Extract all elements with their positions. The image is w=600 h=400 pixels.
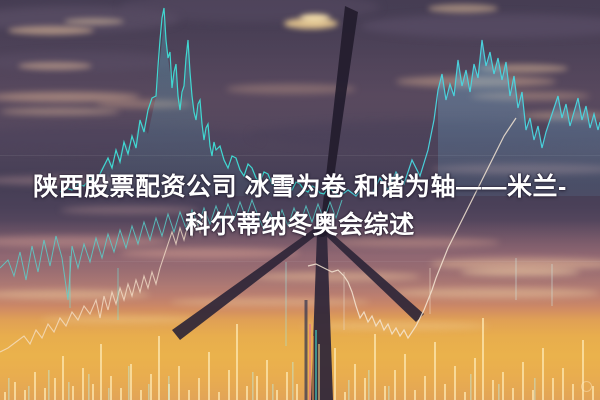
headline-line-1: 陕西股票配资公司 冰雪为卷 和谐为轴——米兰- [0, 168, 600, 206]
headline-text-block: 陕西股票配资公司 冰雪为卷 和谐为轴——米兰- 科尔蒂纳冬奥会综述 [0, 168, 600, 244]
chart-accent-verticals [306, 300, 319, 400]
watermark-dot-icon [581, 381, 592, 392]
chart-volume-bars-teal [8, 362, 536, 400]
chart-spikes [70, 256, 552, 346]
headline-line-2: 科尔蒂纳冬奥会综述 [0, 206, 600, 244]
banner-image: 陕西股票配资公司 冰雪为卷 和谐为轴——米兰- 科尔蒂纳冬奥会综述 [0, 0, 600, 400]
chart-volume-bars [4, 318, 594, 400]
